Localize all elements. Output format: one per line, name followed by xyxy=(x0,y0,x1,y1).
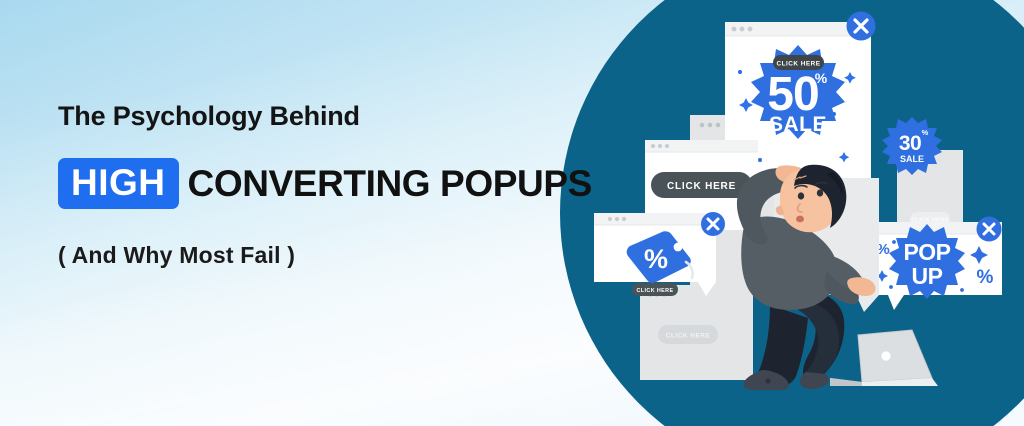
illustration: CLICK HERE CLICK HERE xyxy=(594,0,1024,426)
promo-banner: The Psychology Behind HIGH CONVERTING PO… xyxy=(0,0,1024,426)
popup-pop-up-line1: POP xyxy=(903,239,950,265)
popup-pop-up-symbol-right: % xyxy=(977,267,994,288)
laptop-icon xyxy=(830,330,938,386)
headline-highlight-chip: HIGH xyxy=(58,158,179,209)
popup-discount-tag-label: CLICK HERE xyxy=(637,288,674,294)
popup-50-percent-symbol: % xyxy=(815,70,828,86)
close-icon-popup-popup[interactable] xyxy=(977,217,1002,242)
popup-pop-up-line2: UP xyxy=(912,263,943,289)
headline: HIGH CONVERTING POPUPS xyxy=(58,158,648,209)
banner-copy: The Psychology Behind HIGH CONVERTING PO… xyxy=(58,100,648,269)
popup-30-percent-value: 30 xyxy=(899,132,921,155)
popup-click-here-left-label: CLICK HERE xyxy=(667,181,736,192)
popup-50-badge-label: SALE xyxy=(769,113,827,136)
popup-illustration-svg: CLICK HERE CLICK HERE xyxy=(594,0,1024,426)
popup-30-badge-label: SALE xyxy=(900,154,924,164)
popup-click-here-faded-label: CLICK HERE xyxy=(666,333,711,340)
close-icon-popup-discount[interactable] xyxy=(701,212,725,236)
close-icon-popup-50[interactable] xyxy=(847,12,876,41)
subline-text: ( And Why Most Fail ) xyxy=(58,242,648,269)
popup-30-percent-symbol: % xyxy=(922,128,929,137)
headline-rest: CONVERTING POPUPS xyxy=(188,165,592,202)
popup-click-here-faded[interactable]: CLICK HERE xyxy=(640,285,753,380)
kicker-text: The Psychology Behind xyxy=(58,100,648,132)
popup-50-click-label: CLICK HERE xyxy=(776,61,820,68)
